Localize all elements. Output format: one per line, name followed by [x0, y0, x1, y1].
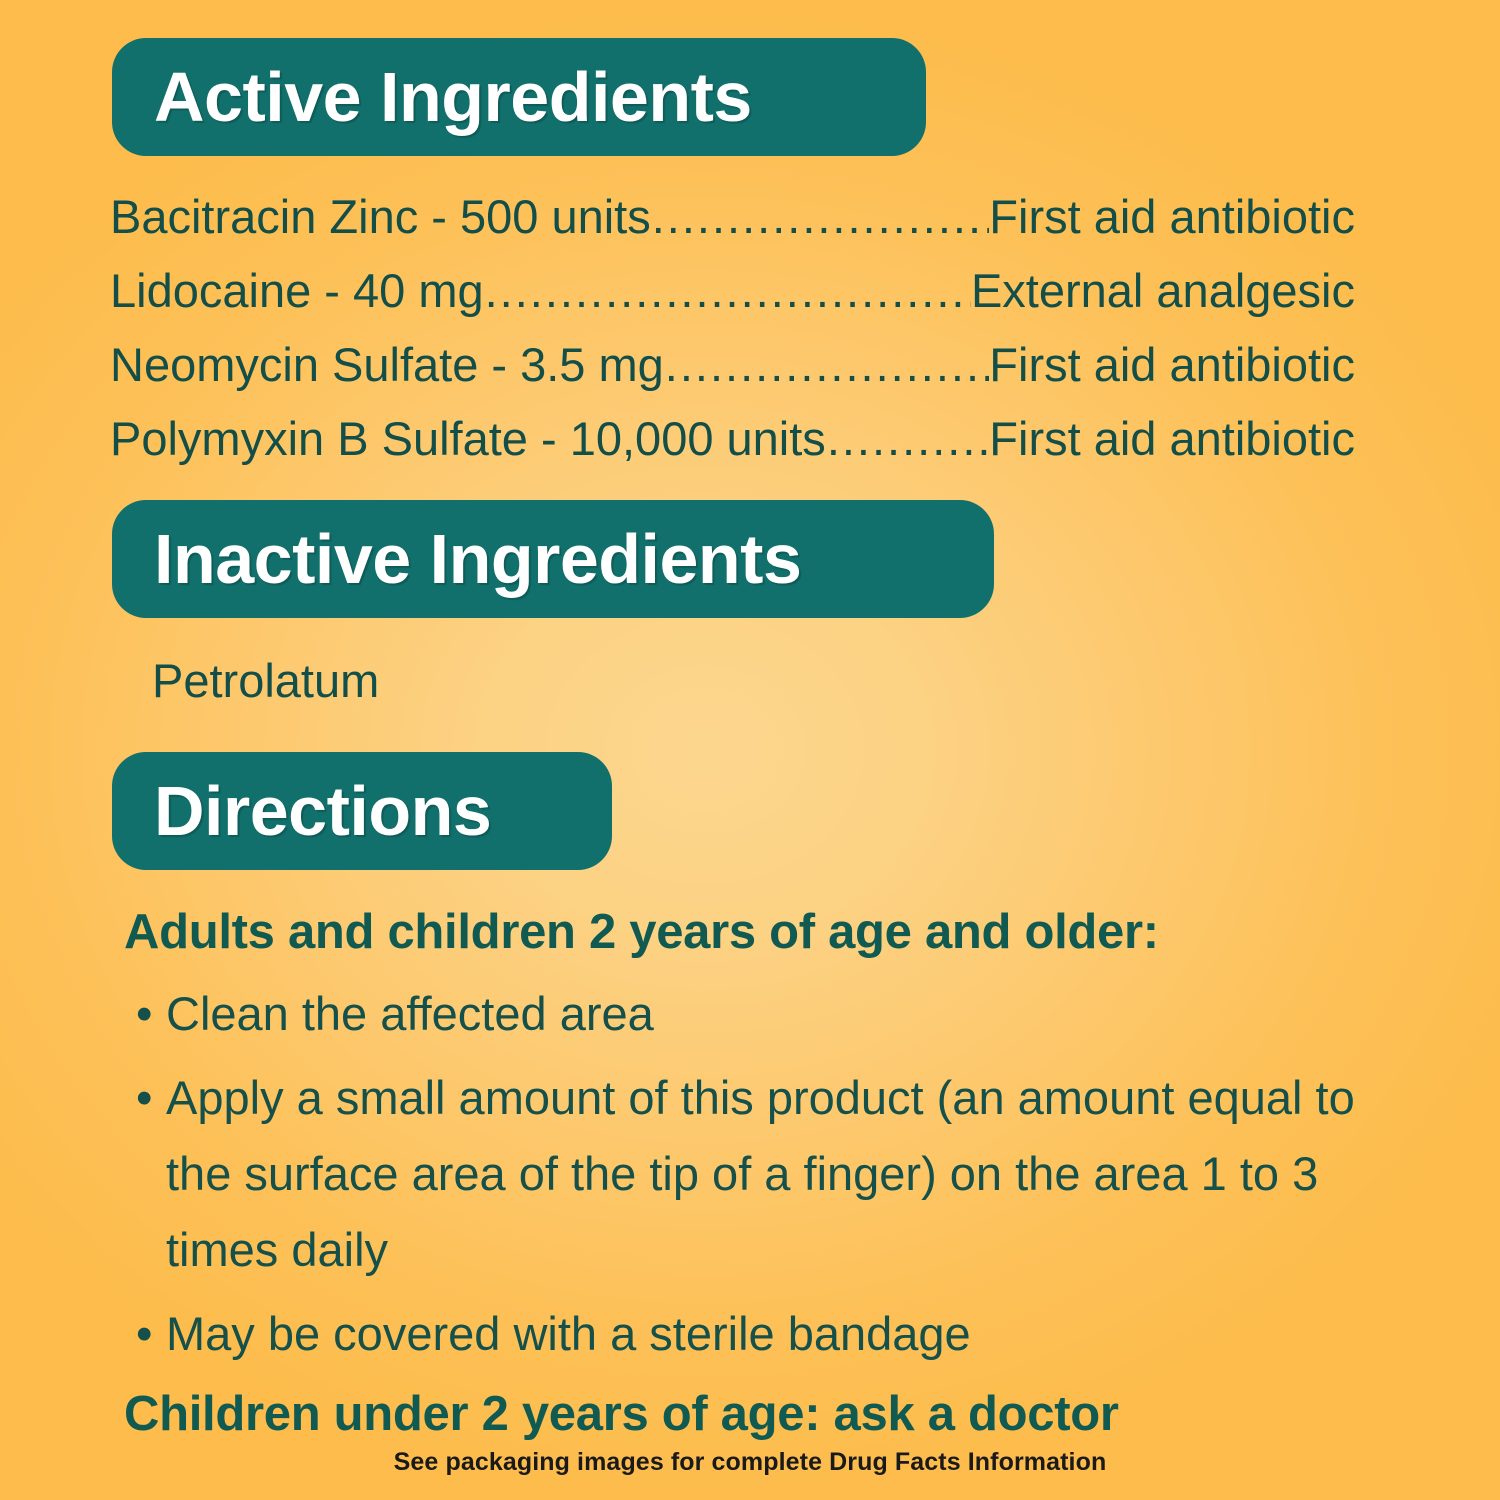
active-ingredient-row: Polymyxin B Sulfate - 10,000 units .....…: [110, 402, 1355, 476]
bullet-marker-icon: •: [136, 1296, 152, 1372]
active-ingredient-name: Neomycin Sulfate - 3.5 mg: [110, 328, 664, 402]
directions-bullet-text: May be covered with a sterile bandage: [166, 1296, 1384, 1372]
inactive-ingredient-item: Petrolatum: [152, 650, 379, 712]
leader-dots: ........................................…: [484, 254, 971, 328]
active-ingredient-purpose: External analgesic: [971, 254, 1355, 328]
section-heading-active-ingredients: Active Ingredients: [112, 38, 926, 156]
active-ingredient-row: Neomycin Sulfate - 3.5 mg ..............…: [110, 328, 1355, 402]
active-ingredient-name: Bacitracin Zinc - 500 units: [110, 180, 651, 254]
ingredients-panel: Active Ingredients Bacitracin Zinc - 500…: [0, 0, 1500, 1500]
active-ingredient-row: Bacitracin Zinc - 500 units ............…: [110, 180, 1355, 254]
active-ingredient-purpose: First aid antibiotic: [989, 402, 1355, 476]
active-ingredient-name: Lidocaine - 40 mg: [110, 254, 484, 328]
section-heading-directions-label: Directions: [154, 776, 491, 846]
bullet-marker-icon: •: [136, 1060, 152, 1136]
active-ingredient-name: Polymyxin B Sulfate - 10,000 units: [110, 402, 826, 476]
directions-bullet-text: Clean the affected area: [166, 976, 1384, 1052]
directions-bullet-item: • May be covered with a sterile bandage: [124, 1296, 1384, 1372]
inactive-ingredients-list: Petrolatum: [152, 650, 379, 712]
directions-bullet-list: • Clean the affected area • Apply a smal…: [124, 976, 1384, 1372]
active-ingredient-purpose: First aid antibiotic: [989, 180, 1355, 254]
directions-content: Adults and children 2 years of age and o…: [124, 896, 1384, 1450]
bullet-marker-icon: •: [136, 976, 152, 1052]
section-heading-inactive-ingredients: Inactive Ingredients: [112, 500, 994, 618]
leader-dots: ........................................…: [651, 180, 990, 254]
section-heading-directions: Directions: [112, 752, 612, 870]
directions-bullet-text: Apply a small amount of this product (an…: [166, 1060, 1384, 1288]
section-heading-active-ingredients-label: Active Ingredients: [154, 62, 752, 132]
leader-dots: ........................................…: [826, 402, 989, 476]
section-heading-inactive-ingredients-label: Inactive Ingredients: [154, 524, 801, 594]
active-ingredient-purpose: First aid antibiotic: [989, 328, 1355, 402]
active-ingredients-list: Bacitracin Zinc - 500 units ............…: [110, 180, 1355, 476]
directions-footer-note: Children under 2 years of age: ask a doc…: [124, 1378, 1384, 1450]
directions-subheading: Adults and children 2 years of age and o…: [124, 896, 1384, 968]
leader-dots: ........................................…: [664, 328, 990, 402]
active-ingredient-row: Lidocaine - 40 mg ......................…: [110, 254, 1355, 328]
packaging-footnote: See packaging images for complete Drug F…: [0, 1448, 1500, 1477]
directions-bullet-item: • Apply a small amount of this product (…: [124, 1060, 1384, 1288]
directions-bullet-item: • Clean the affected area: [124, 976, 1384, 1052]
